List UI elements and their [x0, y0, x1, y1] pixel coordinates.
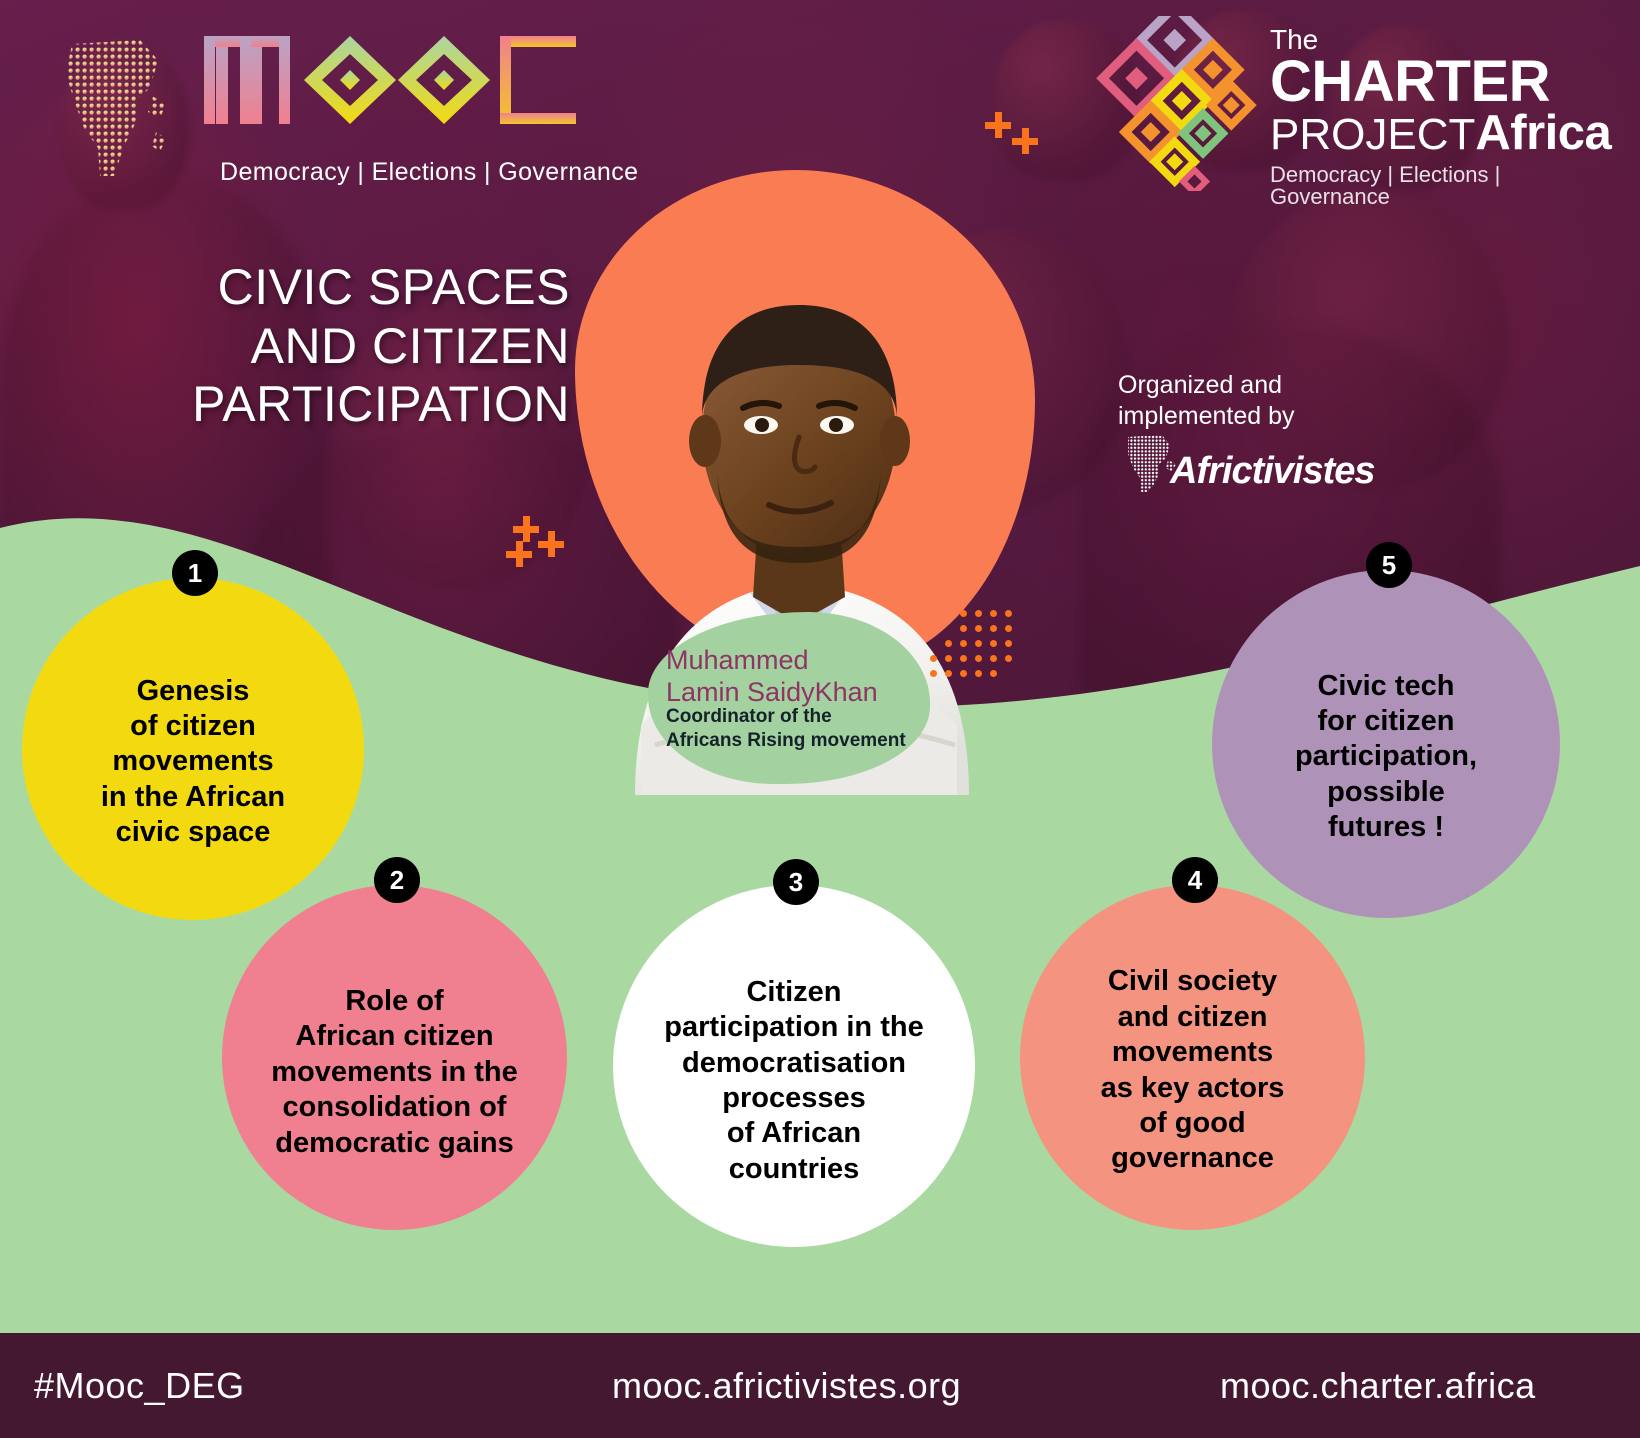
- charter-project-africa-logo[interactable]: The CHARTER PROJECT Africa Democracy | E…: [1088, 16, 1618, 191]
- plus-decoration-icon: [506, 541, 532, 567]
- mooc-wordmark-icon: [200, 28, 580, 148]
- africa-dots-icon: [40, 26, 200, 186]
- topic-2-line-1: Role of: [271, 984, 518, 1019]
- charter-word: CHARTER: [1270, 54, 1618, 109]
- topic-1-line-4: in the African: [101, 780, 285, 815]
- topic-4-line-6: governance: [1101, 1141, 1285, 1176]
- title-line-3: PARTICIPATION: [150, 375, 570, 434]
- title-line-1: CIVIC SPACES: [150, 258, 570, 317]
- infographic-poster: Democracy | Elections | Governance: [0, 0, 1640, 1438]
- topic-2-line-2: African citizen: [271, 1019, 518, 1054]
- topic-2-line-3: movements in the: [271, 1055, 518, 1090]
- topic-number-badge: 3: [773, 859, 819, 905]
- topic-circle-3[interactable]: 3 Citizen participation in the democrati…: [613, 885, 975, 1247]
- topic-3-line-5: of African: [664, 1116, 923, 1151]
- footer-link-charter[interactable]: mooc.charter.africa: [1220, 1365, 1536, 1407]
- plus-decoration-icon: [985, 112, 1011, 138]
- speaker-name-line-1: Muhammed: [666, 645, 926, 677]
- topic-circle-5[interactable]: 5 Civic tech for citizen participation, …: [1212, 570, 1560, 918]
- topic-3-line-4: processes: [664, 1081, 923, 1116]
- charter-geometric-mark-icon: [1088, 16, 1260, 191]
- africtivistes-wordmark: Africtivistes: [1170, 450, 1375, 493]
- topic-1-line-5: civic space: [101, 815, 285, 850]
- topic-5-line-1: Civic tech: [1295, 669, 1477, 704]
- speaker-role: Coordinator of the Africans Rising movem…: [666, 705, 916, 753]
- plus-decoration-icon: [1012, 128, 1038, 154]
- title-line-2: AND CITIZEN: [150, 317, 570, 376]
- topic-number-badge: 4: [1172, 857, 1218, 903]
- topic-number-badge: 5: [1366, 542, 1412, 588]
- speaker-role-line-1: Coordinator of the: [666, 705, 916, 729]
- charter-africa-word: Africa: [1475, 109, 1611, 158]
- topic-3-line-6: countries: [664, 1152, 923, 1187]
- mooc-tagline: Democracy | Elections | Governance: [220, 158, 638, 187]
- plus-decoration-icon: [513, 516, 539, 542]
- footer-bar: #Mooc_DEG mooc.africtivistes.org mooc.ch…: [0, 1333, 1640, 1438]
- dot-grid-decoration-icon: [960, 610, 1060, 690]
- organizer-label-line-2: implemented by: [1118, 401, 1294, 432]
- topic-5-line-2: for citizen: [1295, 704, 1477, 739]
- topic-4-line-4: as key actors: [1101, 1071, 1285, 1106]
- topic-number-badge: 1: [172, 550, 218, 596]
- topic-circle-4[interactable]: 4 Civil society and citizen movements as…: [1020, 885, 1365, 1230]
- topic-3-line-3: democratisation: [664, 1046, 923, 1081]
- topic-text-4: Civil society and citizen movements as k…: [1093, 964, 1293, 1176]
- topic-1-line-1: Genesis: [101, 674, 285, 709]
- topic-circle-1[interactable]: 1 Genesis of citizen movements in the Af…: [22, 578, 364, 920]
- topic-4-line-5: of good: [1101, 1106, 1285, 1141]
- topic-4-line-3: movements: [1101, 1035, 1285, 1070]
- topic-5-line-3: participation,: [1295, 739, 1477, 774]
- page-title: CIVIC SPACES AND CITIZEN PARTICIPATION: [150, 258, 570, 434]
- speaker-role-line-2: Africans Rising movement: [666, 729, 916, 753]
- topic-5-line-4: possible: [1295, 775, 1477, 810]
- footer-hashtag: #Mooc_DEG: [34, 1365, 245, 1407]
- topic-circle-2[interactable]: 2 Role of African citizen movements in t…: [222, 885, 567, 1230]
- topic-2-line-4: consolidation of: [271, 1090, 518, 1125]
- topic-text-5: Civic tech for citizen participation, po…: [1287, 669, 1485, 846]
- topic-1-line-2: of citizen: [101, 709, 285, 744]
- topic-5-line-5: futures !: [1295, 810, 1477, 845]
- topic-text-3: Citizen participation in the democratisa…: [656, 975, 931, 1187]
- topic-4-line-1: Civil society: [1101, 964, 1285, 999]
- topic-text-1: Genesis of citizen movements in the Afri…: [93, 674, 293, 851]
- topic-3-line-2: participation in the: [664, 1010, 923, 1045]
- africtivistes-logo[interactable]: Africtivistes: [1112, 432, 1308, 494]
- speaker-name-line-2: Lamin SaidyKhan: [666, 677, 926, 709]
- footer-link-africtivistes[interactable]: mooc.africtivistes.org: [612, 1365, 961, 1407]
- topic-1-line-3: movements: [101, 744, 285, 779]
- organizer-label: Organized and implemented by: [1118, 370, 1294, 431]
- topic-2-line-5: democratic gains: [271, 1126, 518, 1161]
- plus-decoration-icon: [538, 531, 564, 557]
- topic-text-2: Role of African citizen movements in the…: [263, 984, 526, 1161]
- charter-tagline: Democracy | Elections | Governance: [1270, 164, 1618, 208]
- topic-number-badge: 2: [374, 857, 420, 903]
- organizer-label-line-1: Organized and: [1118, 370, 1294, 401]
- speaker-name: Muhammed Lamin SaidyKhan: [666, 645, 926, 708]
- mooc-logo[interactable]: Democracy | Elections | Governance: [30, 18, 575, 183]
- topic-3-line-1: Citizen: [664, 975, 923, 1010]
- topic-4-line-2: and citizen: [1101, 1000, 1285, 1035]
- charter-project-word: PROJECT: [1270, 113, 1475, 157]
